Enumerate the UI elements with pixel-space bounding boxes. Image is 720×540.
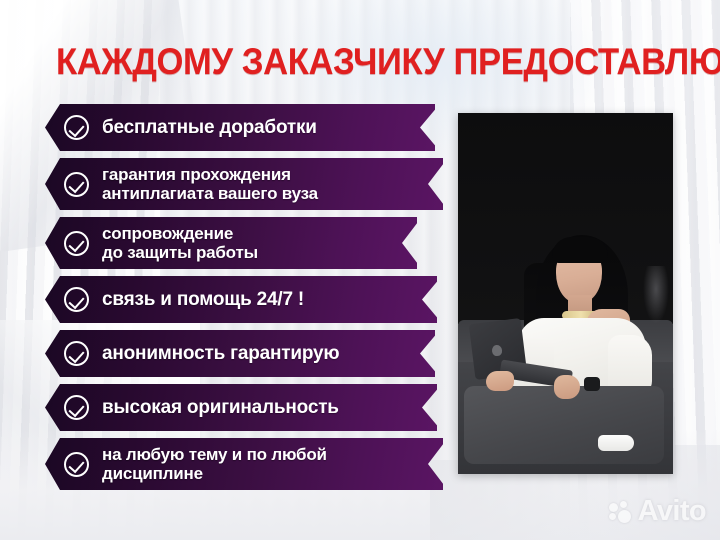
list-item: сопровождение до защиты работы [45, 217, 455, 269]
benefit-banner-any-topic: на любую тему и по любой дисциплине [45, 438, 443, 490]
benefit-banner-free-revisions: бесплатные доработки [45, 104, 435, 151]
benefit-banner-antiplagiarism: гарантия прохождения антиплагиата вашего… [45, 158, 443, 210]
check-circle-icon [64, 341, 89, 366]
check-circle-icon [64, 231, 89, 256]
check-circle-icon [64, 115, 89, 140]
benefit-banner-anonymity: анонимность гарантирую [45, 330, 435, 377]
check-circle-icon [64, 287, 89, 312]
photo-hand-right [554, 375, 580, 399]
page-title: КАЖДОМУ ЗАКАЗЧИКУ ПРЕДОСТАВЛЮ: [56, 42, 631, 82]
benefit-banner-support-to-defense: сопровождение до защиты работы [45, 217, 417, 269]
benefit-label: бесплатные доработки [102, 118, 317, 138]
benefit-label: связь и помощь 24/7 ! [102, 290, 304, 310]
photo-woman-with-laptop [458, 113, 673, 474]
list-item: анонимность гарантирую [45, 330, 455, 377]
benefit-banner-contact-247: связь и помощь 24/7 ! [45, 276, 437, 323]
benefit-label: высокая оригинальность [102, 398, 339, 418]
benefit-label: анонимность гарантирую [102, 344, 339, 364]
check-circle-icon [64, 452, 89, 477]
photo-light-right [643, 266, 669, 324]
photo-wristwatch [584, 377, 600, 391]
photo-sock [598, 435, 634, 451]
benefit-banner-high-originality: высокая оригинальность [45, 384, 437, 431]
benefit-label: сопровождение до защиты работы [102, 224, 258, 262]
photo-hair-front [552, 237, 608, 263]
list-item: на любую тему и по любой дисциплине [45, 438, 455, 490]
benefits-list: бесплатные доработки гарантия прохождени… [45, 104, 455, 497]
list-item: связь и помощь 24/7 ! [45, 276, 455, 323]
check-circle-icon [64, 172, 89, 197]
check-circle-icon [64, 395, 89, 420]
list-item: высокая оригинальность [45, 384, 455, 431]
list-item: бесплатные доработки [45, 104, 455, 151]
benefit-label: на любую тему и по любой дисциплине [102, 445, 327, 483]
list-item: гарантия прохождения антиплагиата вашего… [45, 158, 455, 210]
photo-hand-left [486, 371, 514, 391]
benefit-label: гарантия прохождения антиплагиата вашего… [102, 165, 318, 203]
